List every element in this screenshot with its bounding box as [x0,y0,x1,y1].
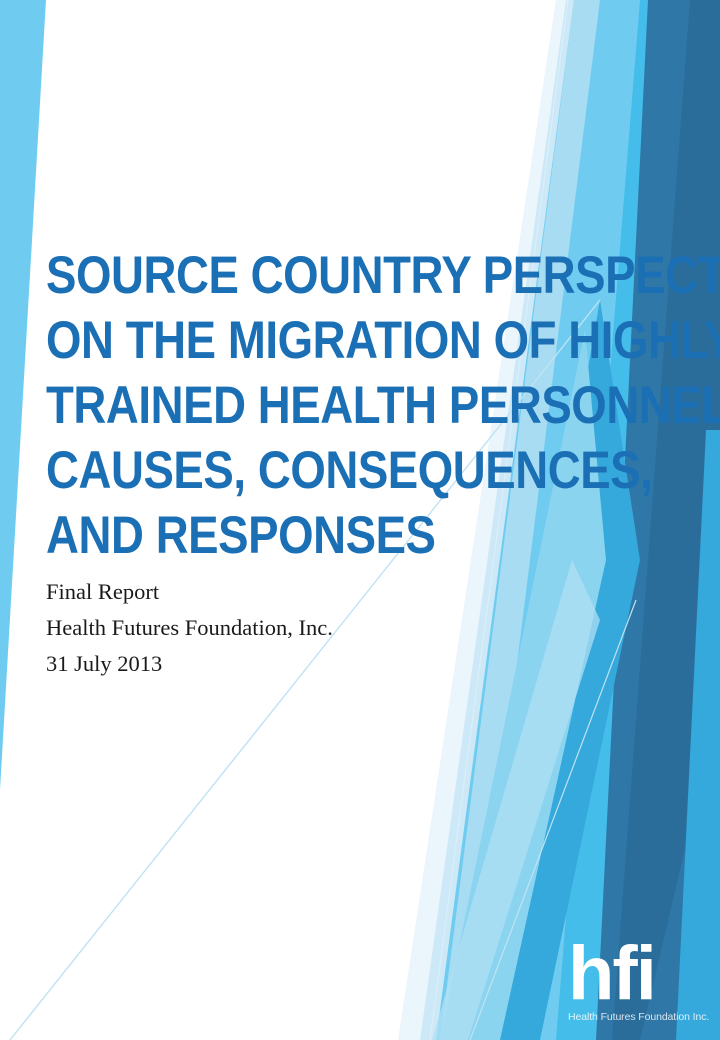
organization-name: Health Futures Foundation, Inc. [46,610,466,646]
subtitle-block: Final Report Health Futures Foundation, … [46,574,466,682]
logo-tagline: Health Futures Foundation Inc. [568,1010,713,1024]
report-date: 31 July 2013 [46,646,466,682]
title-line-5: AND RESPONSES [46,503,493,568]
hfi-logo: hfi Health Futures Foundation Inc. [568,938,713,1024]
page-title: SOURCE COUNTRY PERSPECTIVE ON THE MIGRAT… [46,243,566,568]
title-line-3: TRAINED HEALTH PERSONNEL: [46,373,493,438]
logo-wordmark: hfi [568,938,713,1010]
report-type: Final Report [46,574,466,610]
title-line-4: CAUSES, CONSEQUENCES, [46,438,493,503]
title-line-1: SOURCE COUNTRY PERSPECTIVE [46,243,493,308]
report-cover-page: SOURCE COUNTRY PERSPECTIVE ON THE MIGRAT… [0,0,720,1040]
title-line-2: ON THE MIGRATION OF HIGHLY [46,308,493,373]
